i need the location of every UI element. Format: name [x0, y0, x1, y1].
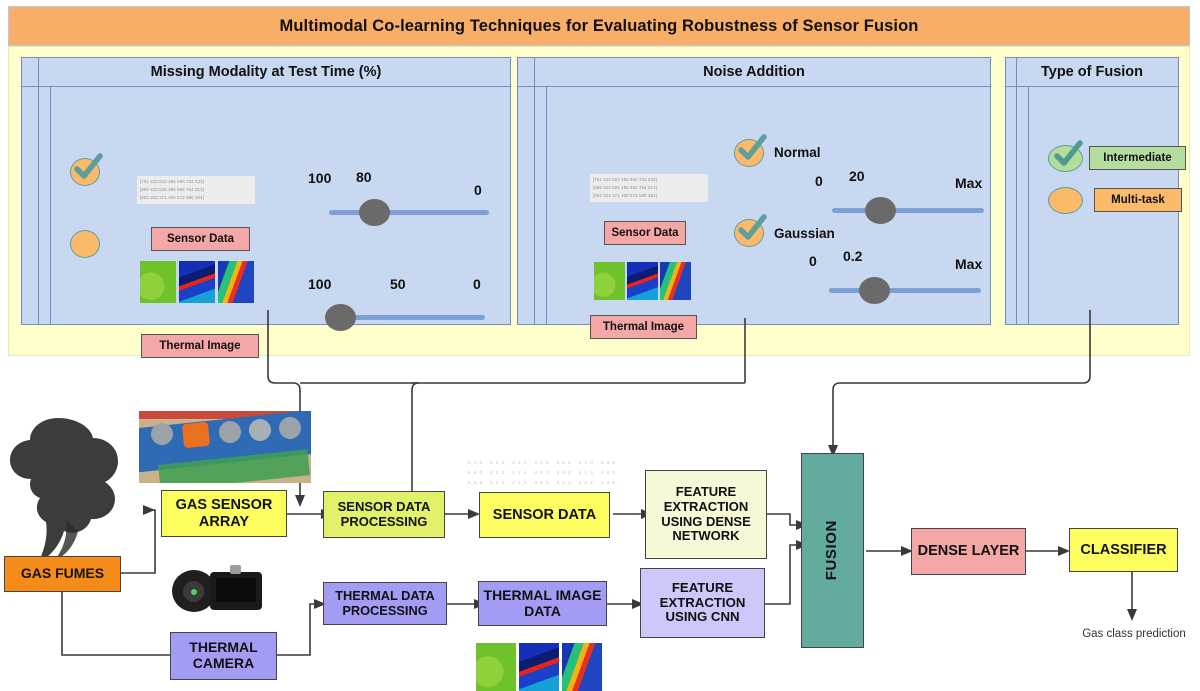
- slider-thumb[interactable]: [865, 197, 896, 224]
- panel-gutter-line-2: [546, 86, 547, 324]
- page-title-bar: Multimodal Co-learning Techniques for Ev…: [8, 6, 1190, 46]
- node-feature-extraction-dense[interactable]: FEATURE EXTRACTION USING DENSE NETWORK: [645, 470, 767, 559]
- sensor-can: [182, 422, 210, 449]
- sensor-data-preview-noise: [791 520 510 455 690 733 533] [869 520 5…: [590, 174, 708, 202]
- thermal-sample: [627, 262, 658, 300]
- thermal-sample: [519, 643, 559, 691]
- slider-track: [829, 288, 981, 293]
- sensor-data-numgrid: 640 522 414 400 555 416 438 660 522 414 …: [468, 458, 618, 488]
- thermal-sample: [218, 261, 254, 303]
- thermal-sample: [660, 262, 691, 300]
- numgrid-row: 660 522 414 400 588 414 441: [468, 468, 618, 478]
- chip-multitask[interactable]: Multi-task: [1094, 188, 1182, 212]
- node-sensor-data-processing[interactable]: SENSOR DATA PROCESSING: [323, 491, 445, 538]
- camera-screen: [216, 578, 256, 602]
- gas-sensor-board-photo: [139, 411, 311, 483]
- slider-gaussian-max-label: Max: [955, 256, 982, 272]
- thermal-image-samples: [140, 261, 254, 303]
- thermal-sample: [594, 262, 625, 300]
- data-row: [553 343 371 400 572 580 364]: [593, 192, 705, 200]
- data-row: [869 520 525 485 692 754 513]: [140, 186, 252, 194]
- label-noise-normal: Normal: [774, 145, 821, 160]
- radio-thermal-image-missing[interactable]: [70, 230, 100, 258]
- slider-thumb[interactable]: [859, 277, 890, 304]
- camera-lens-glint: [191, 589, 197, 595]
- panel-type-of-fusion: Type of Fusion Intermediate Multi-task: [1005, 57, 1179, 325]
- thermal-sample: [476, 643, 516, 691]
- node-feature-extraction-cnn[interactable]: FEATURE EXTRACTION USING CNN: [640, 568, 765, 638]
- radio-noise-gaussian[interactable]: [734, 219, 764, 247]
- data-row: [791 520 510 455 690 733 533]: [593, 176, 705, 184]
- slider-gaussian-value-label: 0.2: [843, 248, 862, 264]
- output-note: Gas class prediction: [1082, 627, 1186, 641]
- slider-normal-min-label: 0: [815, 173, 823, 189]
- check-icon: [737, 134, 767, 164]
- panel-gutter-line: [38, 58, 39, 324]
- slider-thermal-missing[interactable]: [325, 303, 485, 331]
- chip-intermediate[interactable]: Intermediate: [1089, 146, 1186, 170]
- label-noise-gaussian: Gaussian: [774, 226, 835, 241]
- slider-sensor-value-label: 80: [356, 169, 372, 185]
- panel-noise-addition-header: Noise Addition: [518, 58, 990, 87]
- numgrid-row: 638 522 413 398 554 402 435: [468, 478, 618, 488]
- slider-normal-value-label: 20: [849, 168, 865, 184]
- node-dense-layer[interactable]: DENSE LAYER: [911, 528, 1026, 575]
- smoke-plume-icon: [10, 418, 118, 563]
- slider-thumb[interactable]: [359, 199, 390, 226]
- node-gas-fumes[interactable]: GAS FUMES: [4, 556, 121, 592]
- thermal-sample: [179, 261, 215, 303]
- page-title: Multimodal Co-learning Techniques for Ev…: [280, 17, 919, 36]
- panel-missing-modality-header: Missing Modality at Test Time (%): [22, 58, 510, 87]
- data-row: [553 343 371 400 572 580 364]: [140, 194, 252, 202]
- panel-gutter-line: [534, 58, 535, 324]
- node-sensor-data[interactable]: SENSOR DATA: [479, 492, 610, 538]
- node-classifier[interactable]: CLASSIFIER: [1069, 528, 1178, 572]
- sensor-data-preview: [791 520 510 455 690 733 533] [869 520 5…: [137, 176, 255, 204]
- node-thermal-image-data[interactable]: THERMAL IMAGE DATA: [478, 581, 607, 626]
- slider-thermal-value-label: 50: [390, 276, 406, 292]
- slider-thermal-max-label: 0: [473, 276, 481, 292]
- chip-sensor-data: Sensor Data: [151, 227, 250, 251]
- slider-thermal-min-label: 100: [308, 276, 331, 292]
- slider-sensor-max-label: 0: [474, 182, 482, 198]
- control-panel-frame: Missing Modality at Test Time (%) [791 5…: [8, 46, 1190, 356]
- radio-fusion-intermediate[interactable]: [1048, 145, 1083, 172]
- slider-normal-max-label: Max: [955, 175, 982, 191]
- panel-missing-modality: Missing Modality at Test Time (%) [791 5…: [21, 57, 511, 325]
- thermal-sample: [562, 643, 602, 691]
- node-thermal-data-processing[interactable]: THERMAL DATA PROCESSING: [323, 582, 447, 625]
- slider-sensor-missing[interactable]: [329, 198, 489, 226]
- screenshot-root: Multimodal Co-learning Techniques for Ev…: [0, 0, 1200, 691]
- radio-fusion-multitask[interactable]: [1048, 187, 1083, 214]
- slider-noise-normal[interactable]: [832, 196, 984, 224]
- thermal-sample: [140, 261, 176, 303]
- radio-noise-normal[interactable]: [734, 139, 764, 167]
- chip-sensor-data-noise: Sensor Data: [604, 221, 686, 245]
- data-row: [869 520 525 485 692 754 513]: [593, 184, 705, 192]
- node-thermal-camera[interactable]: THERMAL CAMERA: [170, 632, 277, 680]
- radio-sensor-data-missing[interactable]: [70, 158, 100, 186]
- check-icon: [73, 153, 103, 183]
- slider-sensor-min-label: 100: [308, 170, 331, 186]
- data-row: [791 520 510 455 690 733 533]: [140, 178, 252, 186]
- slider-track: [329, 210, 489, 215]
- slider-gaussian-min-label: 0: [809, 253, 817, 269]
- panel-noise-addition: Noise Addition [791 520 510 455 690 733 …: [517, 57, 991, 325]
- slider-noise-gaussian[interactable]: [829, 276, 981, 304]
- node-fusion[interactable]: FUSION: [801, 453, 864, 648]
- check-icon: [737, 214, 767, 244]
- slider-track: [832, 208, 984, 213]
- panel-gutter-line-2: [1028, 86, 1029, 324]
- panel-gutter-line: [1016, 58, 1017, 324]
- chip-thermal-image-noise: Thermal Image: [590, 315, 697, 339]
- thermal-image-samples-noise: [594, 262, 691, 300]
- check-icon: [1053, 140, 1083, 170]
- chip-thermal-image: Thermal Image: [141, 334, 259, 358]
- numgrid-row: 640 522 414 400 555 416 438: [468, 458, 618, 468]
- panel-type-of-fusion-header: Type of Fusion: [1006, 58, 1178, 87]
- panel-gutter-line-2: [50, 86, 51, 324]
- thermal-image-samples-bottom: [476, 643, 602, 691]
- slider-thumb[interactable]: [325, 304, 356, 331]
- camera-connector: [230, 565, 241, 574]
- node-gas-sensor-array[interactable]: GAS SENSOR ARRAY: [161, 490, 287, 537]
- thermal-camera-photo: [172, 566, 272, 612]
